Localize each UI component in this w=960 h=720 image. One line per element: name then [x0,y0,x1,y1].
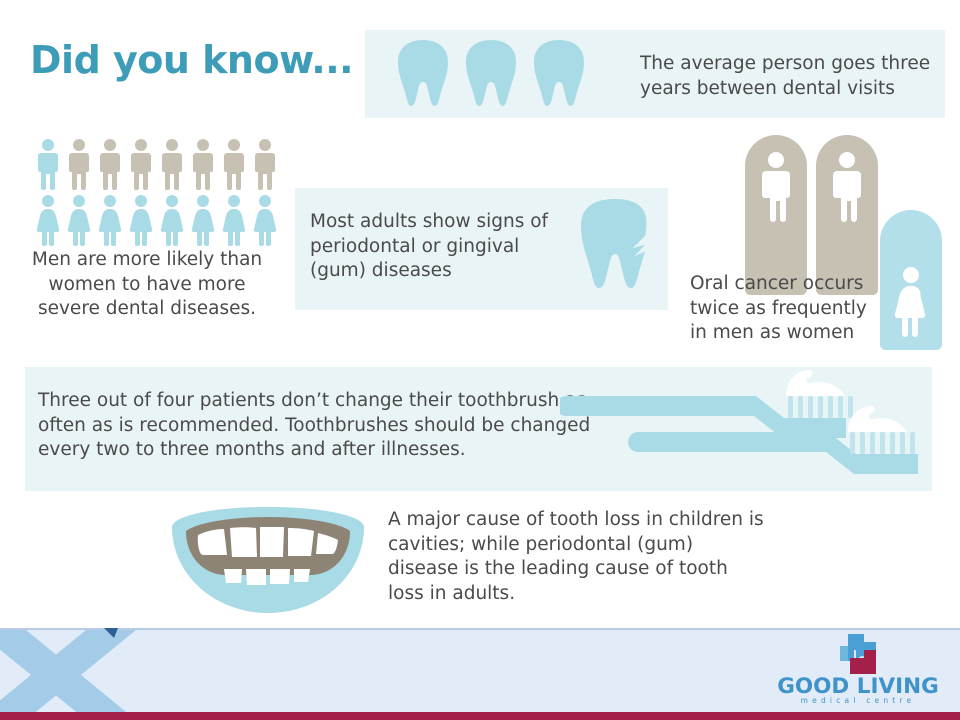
male-figure-icon [127,138,155,190]
footer-x-decoration [0,622,196,720]
chipped-tooth-icon [575,196,655,300]
toothbrush-icon-group [560,368,950,490]
male-figure-icon [220,138,248,190]
page-title: Did you know... [30,38,353,82]
male-pictogram-row [34,138,279,190]
tooth-icon [395,38,451,110]
fact-tooth-loss: A major cause of tooth loss in children … [388,508,768,606]
male-figure-icon [34,138,62,190]
oral-cancer-male-pill [745,135,807,295]
female-figure-icon [220,194,248,246]
male-figure-icon [189,138,217,190]
medical-cross-icon [820,632,896,676]
toothbrush-icon [560,370,853,438]
fact-men-severe-disease: Men are more likely than women to have m… [18,248,276,322]
fact-dental-visits: The average person goes three years betw… [640,52,940,101]
female-figure-icon [65,194,93,246]
tooth-icon [531,38,587,110]
tooth-icon-group [395,38,587,110]
oral-cancer-female-pill [880,210,942,350]
male-figure-icon [158,138,186,190]
tooth-icon [463,38,519,110]
fact-gum-disease: Most adults show signs of periodontal or… [310,210,570,284]
female-pictogram-row [34,194,279,246]
footer-accent-strip [0,712,960,720]
male-figure-icon [65,138,93,190]
infographic-canvas: Did you know... The average person goes … [0,0,960,720]
female-figure-icon [158,194,186,246]
female-figure-icon [251,194,279,246]
logo[interactable]: GOOD LIVING medical centre [768,632,948,702]
oral-cancer-male-pill [816,135,878,295]
logo-tagline: medical centre [768,696,948,705]
male-figure-icon [96,138,124,190]
fact-oral-cancer: Oral cancer occurs twice as frequently i… [690,272,875,346]
people-pictogram-chart [34,138,279,246]
female-figure-icon [189,194,217,246]
female-figure-icon [34,194,62,246]
female-figure-icon [127,194,155,246]
female-figure-icon [96,194,124,246]
smile-mouth-icon [168,505,368,617]
fact-toothbrush: Three out of four patients don’t change … [38,389,598,463]
male-figure-icon [251,138,279,190]
